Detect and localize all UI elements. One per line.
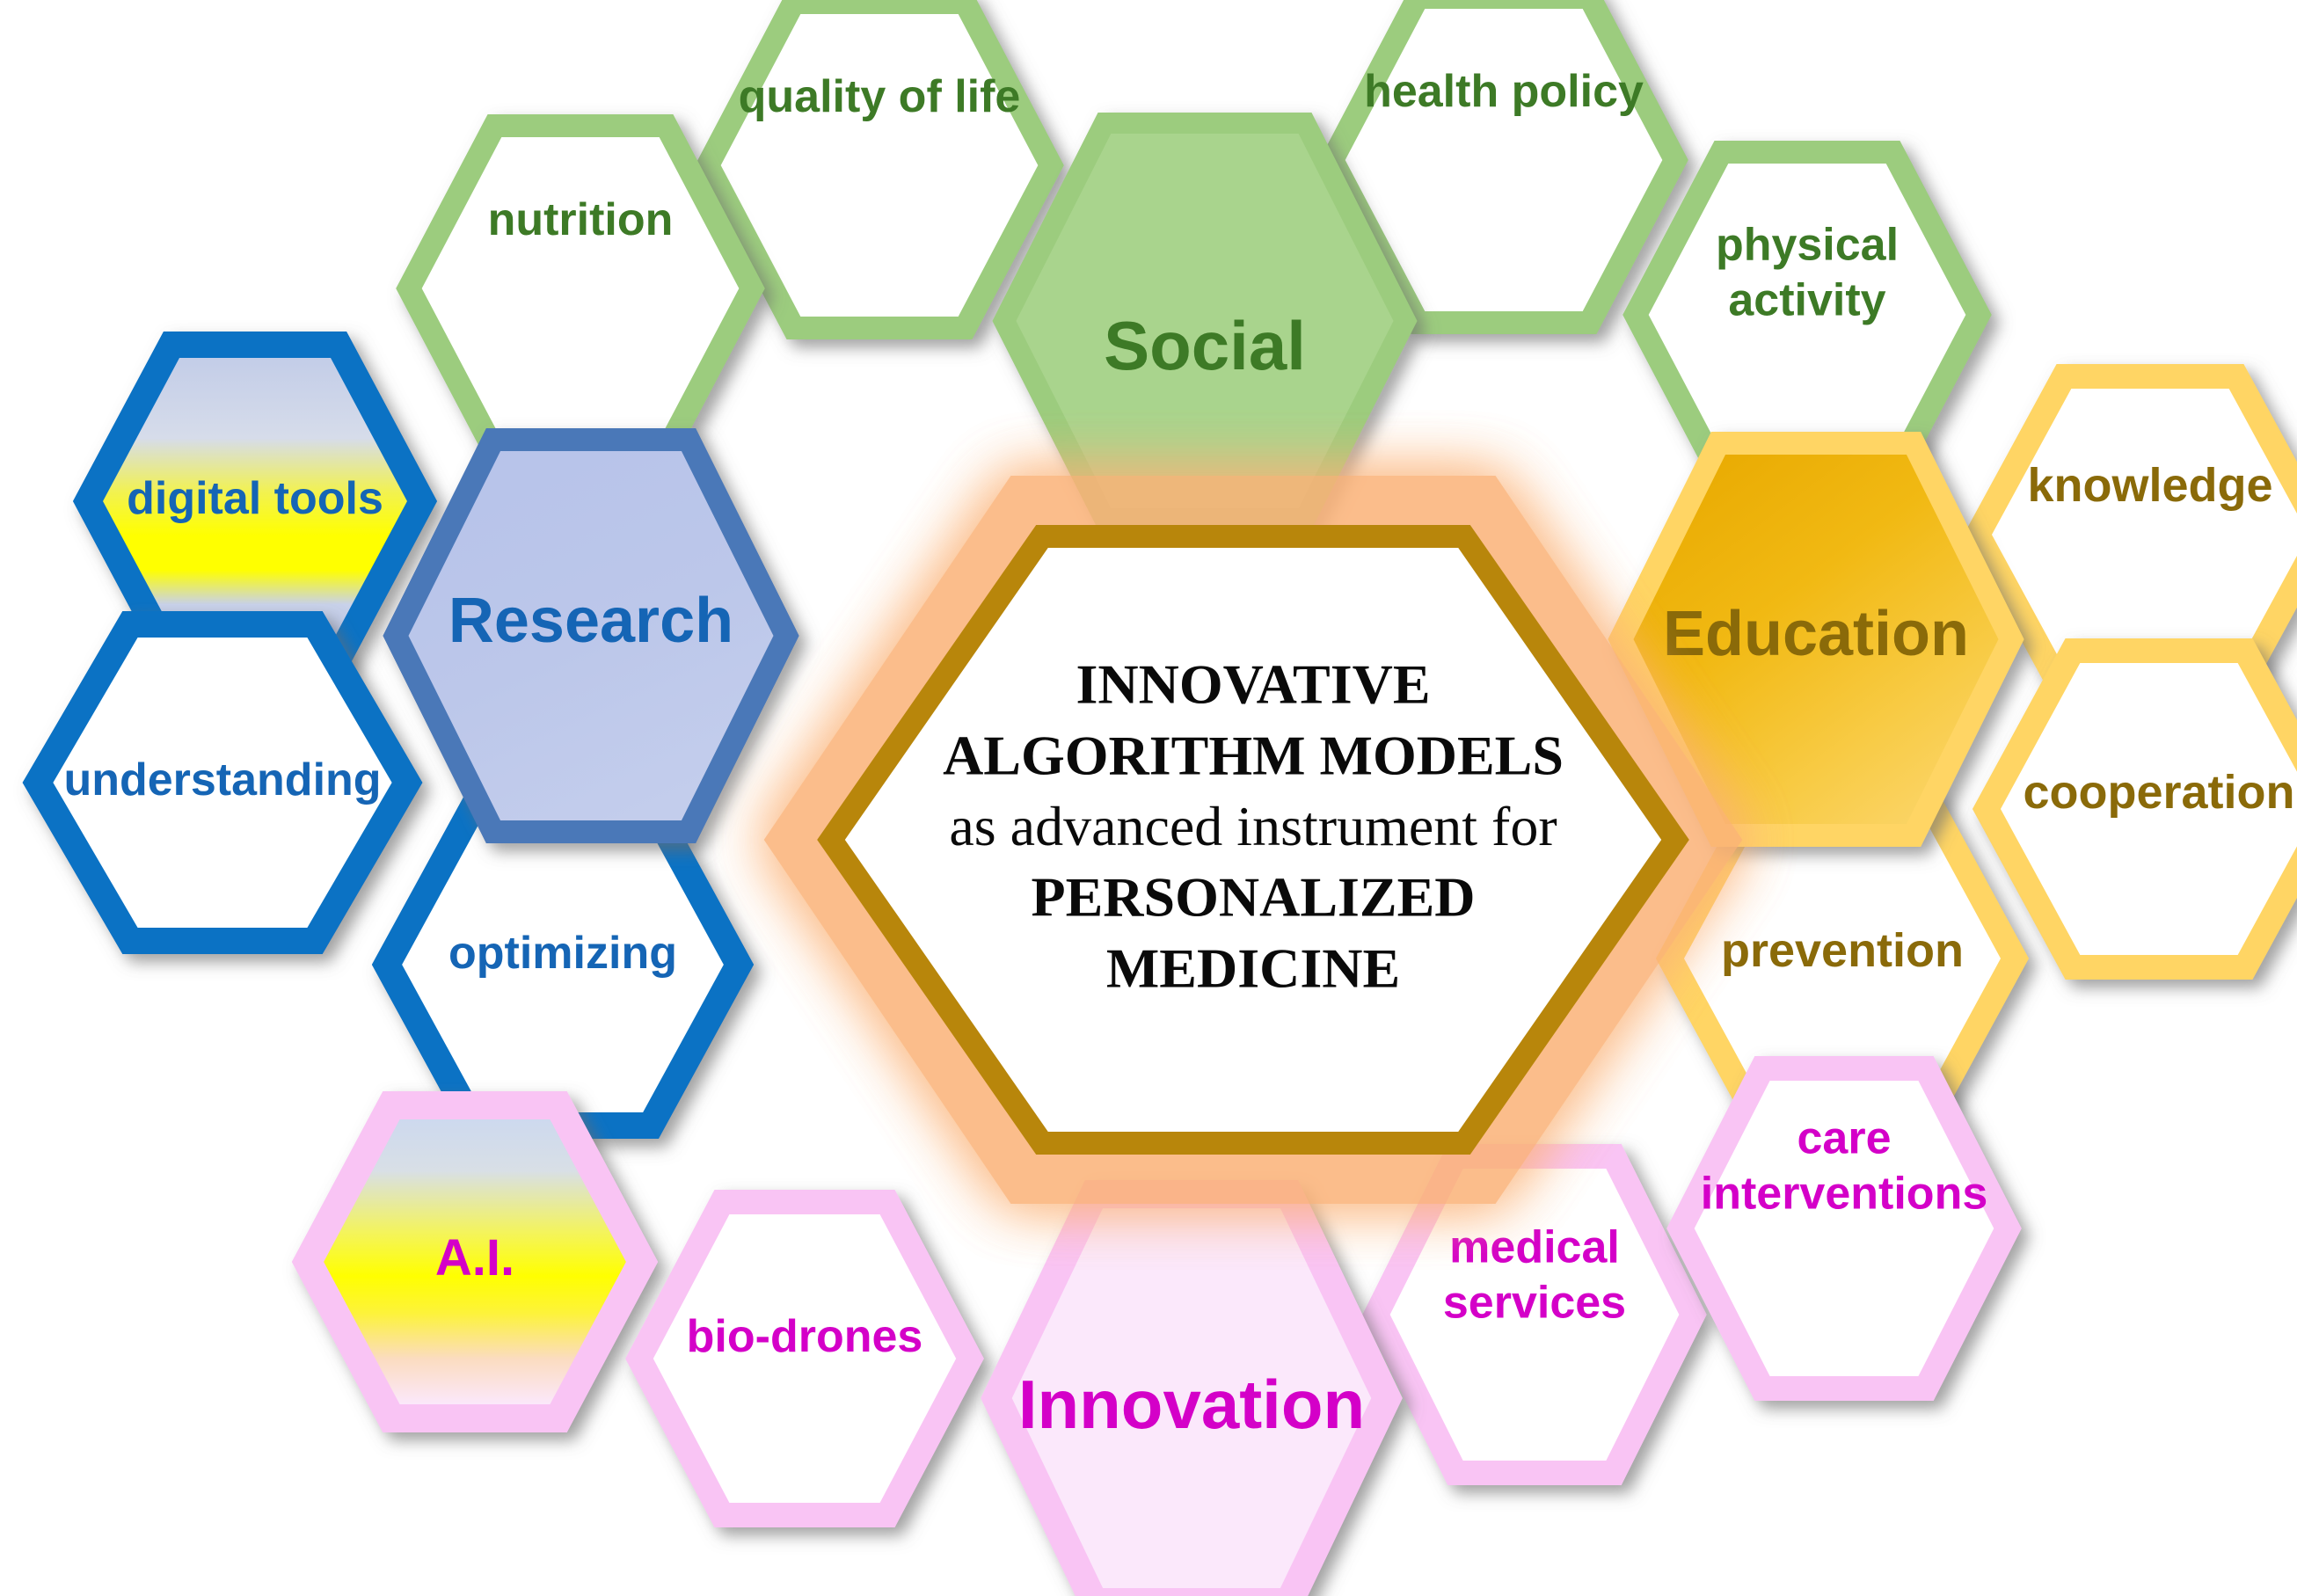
hexagon-optimizing[interactable]: optimizing — [387, 804, 739, 1126]
central-text-line: MEDICINE — [1106, 936, 1400, 999]
central-text-line: PERSONALIZED — [1032, 866, 1476, 929]
central-hexagon[interactable]: INNOVATIVEALGORITHM MODELSas advanced in… — [801, 506, 1705, 1173]
hexagon-research-hub[interactable]: Research — [396, 440, 786, 832]
hexagon-cooperation[interactable]: cooperation — [1987, 651, 2297, 967]
hexagon-innovation-hub[interactable]: Innovation — [996, 1194, 1387, 1596]
diagram-canvas: quality of lifenutritionhealth policyphy… — [0, 0, 2297, 1596]
hexagon-care-interventions[interactable]: careinterventions — [1681, 1068, 2008, 1388]
hexagon-understanding[interactable]: understanding — [38, 624, 407, 941]
hexagon-concept-diagram: quality of lifenutritionhealth policyphy… — [0, 0, 2297, 1596]
central-hexagon-group: INNOVATIVEALGORITHM MODELSas advanced in… — [801, 506, 1705, 1173]
hexagon-physical-activity[interactable]: physicalactivity — [1636, 152, 1979, 477]
hexagon-ai[interactable]: A.I. — [308, 1105, 642, 1418]
hexagon-social-hub[interactable]: Social — [1004, 123, 1405, 519]
central-text-line: INNOVATIVE — [1076, 653, 1430, 716]
hexagon-bio-drones[interactable]: bio-drones — [639, 1202, 970, 1515]
hexagon-nutrition[interactable]: nutrition — [409, 126, 752, 451]
hexagon-digital-tools[interactable]: digital tools — [88, 345, 422, 658]
central-text-line: as advanced instrument for — [949, 795, 1557, 857]
central-text-line: ALGORITHM MODELS — [943, 724, 1564, 786]
